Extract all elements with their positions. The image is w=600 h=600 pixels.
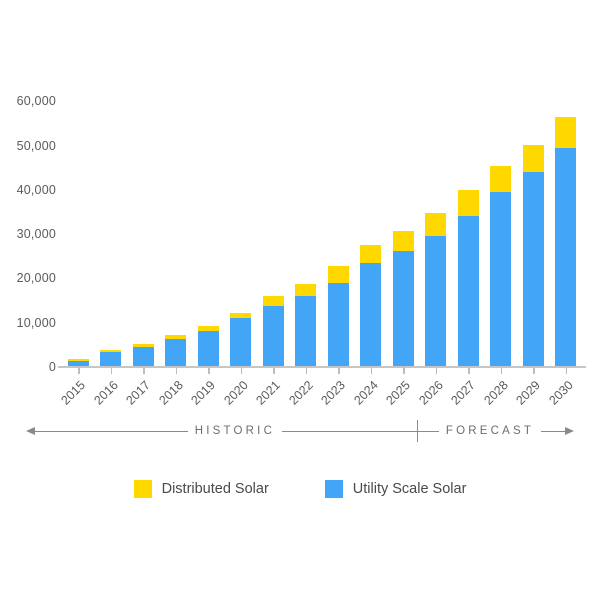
- x-tick-label-2030: 2030: [542, 378, 576, 412]
- bar-segment-utility-scale-solar: [100, 352, 121, 367]
- bar-2026[interactable]: [425, 213, 446, 367]
- legend-item-utility-scale-solar[interactable]: Utility Scale Solar: [325, 480, 467, 498]
- legend-label-utility-scale-solar: Utility Scale Solar: [353, 481, 467, 497]
- y-tick-label: 20,000: [17, 271, 56, 285]
- bar-segment-utility-scale-solar: [523, 172, 544, 367]
- bar-segment-utility-scale-solar: [230, 318, 251, 367]
- bar-segment-distributed-solar: [165, 335, 186, 339]
- y-tick-label: 40,000: [17, 183, 56, 197]
- x-tick: [273, 367, 274, 374]
- x-tick-label-2022: 2022: [282, 378, 316, 412]
- bar-segment-distributed-solar: [198, 326, 219, 331]
- x-tick-label-2015: 2015: [54, 378, 88, 412]
- historic-arrow-icon: [26, 427, 35, 435]
- y-tick-label: 30,000: [17, 227, 56, 241]
- y-tick-label: 60,000: [17, 94, 56, 108]
- x-tick: [501, 367, 502, 374]
- x-tick-label-2017: 2017: [119, 378, 153, 412]
- bar-2018[interactable]: [165, 335, 186, 367]
- bar-segment-utility-scale-solar: [263, 306, 284, 367]
- bar-segment-distributed-solar: [458, 190, 479, 216]
- x-tick: [306, 367, 307, 374]
- bar-segment-distributed-solar: [425, 213, 446, 236]
- y-axis: 010,00020,00030,00040,00050,00060,000: [0, 88, 56, 380]
- x-tick: [241, 367, 242, 374]
- x-tick: [403, 367, 404, 374]
- x-tick-label-2025: 2025: [379, 378, 413, 412]
- period-annotation-band: HISTORIC FORECAST: [26, 418, 574, 444]
- x-tick: [371, 367, 372, 374]
- legend-label-distributed-solar: Distributed Solar: [162, 481, 269, 497]
- bar-segment-utility-scale-solar: [295, 296, 316, 367]
- bar-2027[interactable]: [458, 190, 479, 367]
- x-tick-label-2021: 2021: [249, 378, 283, 412]
- bar-2021[interactable]: [263, 296, 284, 367]
- y-tick-label: 50,000: [17, 139, 56, 153]
- bar-segment-utility-scale-solar: [165, 339, 186, 367]
- x-tick: [208, 367, 209, 374]
- bar-2025[interactable]: [393, 231, 414, 367]
- y-tick-label: 0: [49, 360, 56, 374]
- x-tick-label-2028: 2028: [477, 378, 511, 412]
- x-tick-label-2020: 2020: [217, 378, 251, 412]
- bar-segment-utility-scale-solar: [555, 148, 576, 367]
- bar-segment-distributed-solar: [230, 313, 251, 319]
- bar-segment-distributed-solar: [490, 166, 511, 193]
- bar-segment-distributed-solar: [555, 117, 576, 148]
- forecast-arrow-icon: [565, 427, 574, 435]
- x-tick: [566, 367, 567, 374]
- chart-legend: Distributed Solar Utility Scale Solar: [0, 480, 600, 498]
- x-tick-label-2023: 2023: [314, 378, 348, 412]
- bar-segment-distributed-solar: [133, 344, 154, 347]
- bar-segment-utility-scale-solar: [133, 347, 154, 367]
- bar-segment-distributed-solar: [263, 296, 284, 306]
- bar-2030[interactable]: [555, 117, 576, 367]
- bar-segment-utility-scale-solar: [198, 331, 219, 367]
- bar-2029[interactable]: [523, 145, 544, 367]
- bar-segment-utility-scale-solar: [458, 216, 479, 367]
- x-tick: [468, 367, 469, 374]
- y-tick-label: 10,000: [17, 316, 56, 330]
- bar-2017[interactable]: [133, 344, 154, 367]
- x-tick-label-2018: 2018: [152, 378, 186, 412]
- forecast-label: FORECAST: [439, 425, 541, 437]
- bar-segment-distributed-solar: [295, 284, 316, 296]
- bar-segment-distributed-solar: [523, 145, 544, 172]
- solar-capacity-stacked-bar-chart: 010,00020,00030,00040,00050,00060,000 20…: [0, 0, 600, 600]
- x-tick-label-2027: 2027: [444, 378, 478, 412]
- bar-segment-utility-scale-solar: [490, 192, 511, 367]
- legend-swatch-distributed-solar: [134, 480, 152, 498]
- bar-2016[interactable]: [100, 350, 121, 367]
- bar-2020[interactable]: [230, 313, 251, 367]
- bar-segment-distributed-solar: [68, 359, 89, 361]
- x-tick-label-2019: 2019: [184, 378, 218, 412]
- bar-segment-utility-scale-solar: [393, 251, 414, 367]
- bar-segment-distributed-solar: [328, 266, 349, 282]
- bar-segment-utility-scale-solar: [360, 263, 381, 367]
- bar-2023[interactable]: [328, 266, 349, 367]
- legend-swatch-utility-scale-solar: [325, 480, 343, 498]
- x-tick-label-2016: 2016: [87, 378, 121, 412]
- x-axis-labels: 2015201620172018201920202021202220232024…: [62, 374, 582, 414]
- x-tick: [533, 367, 534, 374]
- x-tick: [436, 367, 437, 374]
- x-tick: [111, 367, 112, 374]
- bar-segment-utility-scale-solar: [425, 236, 446, 367]
- x-tick-label-2026: 2026: [412, 378, 446, 412]
- bar-segment-distributed-solar: [360, 245, 381, 263]
- legend-item-distributed-solar[interactable]: Distributed Solar: [134, 480, 269, 498]
- bar-2028[interactable]: [490, 166, 511, 368]
- bar-segment-distributed-solar: [393, 231, 414, 251]
- bar-segment-utility-scale-solar: [328, 283, 349, 367]
- bar-segment-distributed-solar: [100, 350, 121, 352]
- bar-2019[interactable]: [198, 326, 219, 367]
- x-tick: [338, 367, 339, 374]
- x-tick-label-2029: 2029: [509, 378, 543, 412]
- x-tick-label-2024: 2024: [347, 378, 381, 412]
- bar-2022[interactable]: [295, 284, 316, 367]
- x-tick: [176, 367, 177, 374]
- historic-label: HISTORIC: [188, 425, 282, 437]
- x-tick: [78, 367, 79, 374]
- x-tick: [143, 367, 144, 374]
- bars-layer: [62, 88, 582, 367]
- bar-2024[interactable]: [360, 245, 381, 367]
